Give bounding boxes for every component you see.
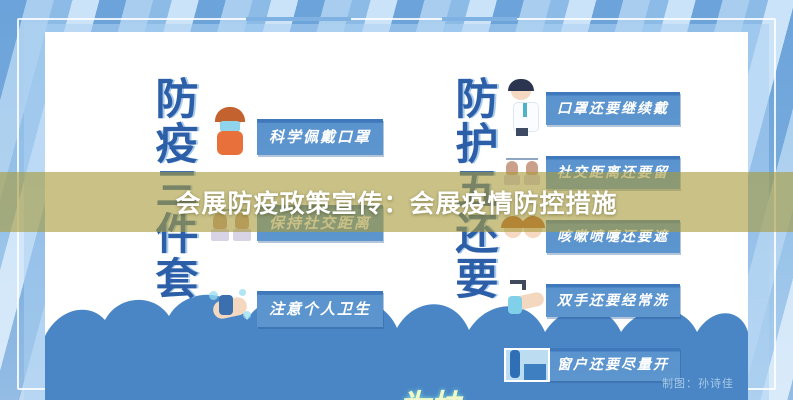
right-item-label-5: 窗户还要尽量开	[546, 348, 680, 381]
list-item: 双手还要经常洗	[500, 268, 790, 332]
list-item: 窗户还要尽量开	[500, 332, 790, 396]
hand-wash-tap-icon	[500, 274, 546, 326]
right-item-label-4: 双手还要经常洗	[546, 284, 680, 317]
poster-image: 防疫三件套 科学佩戴口罩 保持社交距离	[0, 0, 793, 400]
washing-hands-icon	[205, 281, 257, 337]
doctor-icon	[500, 82, 546, 134]
left-item-label-1: 科学佩戴口罩	[257, 119, 383, 155]
right-panel-items: 口罩还要继续戴 社交距离还要留 咳嗽喷	[500, 76, 790, 396]
left-item-label-3: 注意个人卫生	[257, 291, 383, 327]
list-item: 注意个人卫生	[205, 266, 425, 352]
organization-logo: 为协 简报组	[397, 380, 507, 400]
title-overlay-band: 会展防疫政策宣传：会展疫情防控措施	[0, 172, 793, 232]
logo-mark-text: 为协	[397, 380, 507, 400]
list-item: 口罩还要继续戴	[500, 76, 790, 140]
girl-with-mask-icon	[205, 109, 257, 165]
page-title: 会展防疫政策宣传：会展疫情防控措施	[175, 184, 617, 220]
credit-text: 制图：孙诗佳	[662, 375, 734, 391]
right-item-label-1: 口罩还要继续戴	[546, 92, 680, 125]
list-item: 科学佩戴口罩	[205, 94, 425, 180]
